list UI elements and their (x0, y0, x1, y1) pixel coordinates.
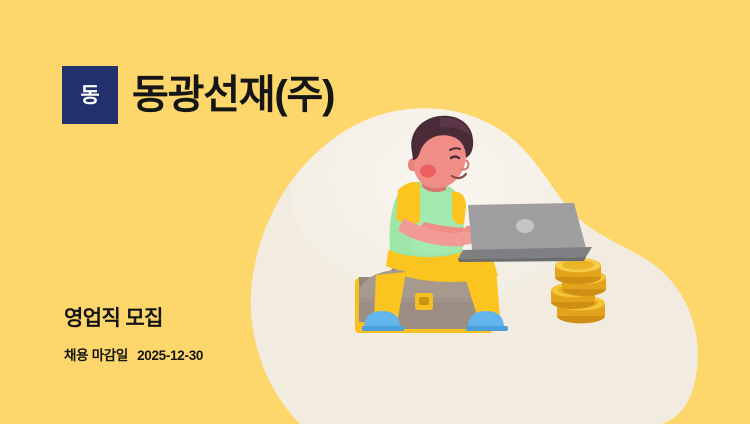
deadline-label: 채용 마감일 (64, 344, 128, 364)
company-logo-badge: 동 (62, 66, 118, 124)
company-name: 동광선재(주) (132, 75, 334, 115)
coin-stack (551, 258, 606, 324)
job-poster: 동 동광선재(주) 영업직 모집 채용 마감일 2025-12-30 (0, 0, 750, 424)
job-info-block: 영업직 모집 채용 마감일 2025-12-30 (64, 306, 203, 364)
brand-header: 동 동광선재(주) (62, 66, 334, 124)
job-title: 영업직 모집 (64, 306, 203, 331)
deadline-date: 2025-12-30 (137, 348, 203, 363)
deadline-row: 채용 마감일 2025-12-30 (64, 344, 203, 364)
laptop (458, 203, 592, 262)
